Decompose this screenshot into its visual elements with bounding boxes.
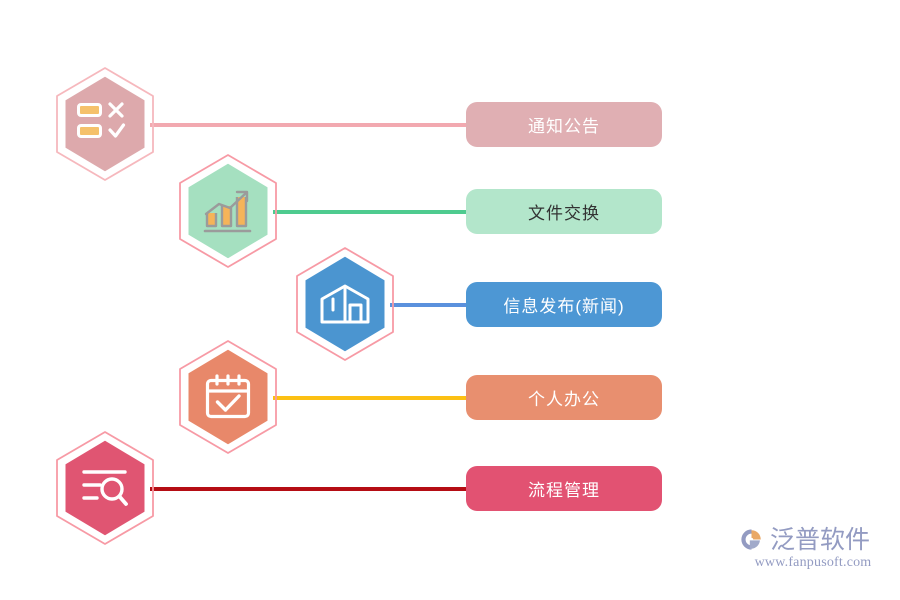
- watermark-url: www.fanpusoft.com: [738, 555, 888, 571]
- module-pill-info-release[interactable]: 信息发布(新闻): [466, 282, 662, 327]
- bar-chart-growth-icon: [178, 153, 278, 269]
- module-pill-label: 文件交换: [528, 199, 600, 224]
- watermark-logo: 泛普软件 www.fanpusoft.com: [738, 526, 888, 584]
- module-pill-personal-office[interactable]: 个人办公: [466, 375, 662, 420]
- watermark-brand-text: 泛普软件: [770, 527, 870, 552]
- connector-line-file-exchange: [273, 210, 472, 214]
- hex-badge-file-exchange[interactable]: [178, 153, 278, 269]
- hex-badge-info-release[interactable]: [295, 246, 395, 362]
- connector-line-notice: [150, 123, 472, 127]
- fanpu-logo-icon: [738, 526, 765, 553]
- document-search-icon: [55, 430, 155, 546]
- module-pill-label: 信息发布(新闻): [503, 292, 624, 317]
- module-pill-process-management[interactable]: 流程管理: [466, 466, 662, 511]
- diagram-canvas: 通知公告 文件交换 信息发布(新闻): [0, 0, 900, 600]
- connector-line-process-management: [150, 487, 472, 491]
- module-pill-label: 个人办公: [528, 385, 600, 410]
- hex-badge-personal-office[interactable]: [178, 339, 278, 455]
- module-pill-file-exchange[interactable]: 文件交换: [466, 189, 662, 234]
- module-pill-label: 流程管理: [528, 476, 600, 501]
- connector-line-info-release: [390, 303, 472, 307]
- calendar-check-icon: [178, 339, 278, 455]
- building-icon: [295, 246, 395, 362]
- watermark-brand-row: 泛普软件: [738, 526, 888, 553]
- hex-badge-process-management[interactable]: [55, 430, 155, 546]
- connector-line-personal-office: [273, 396, 472, 400]
- diagram-row: 流程管理: [0, 0, 900, 116]
